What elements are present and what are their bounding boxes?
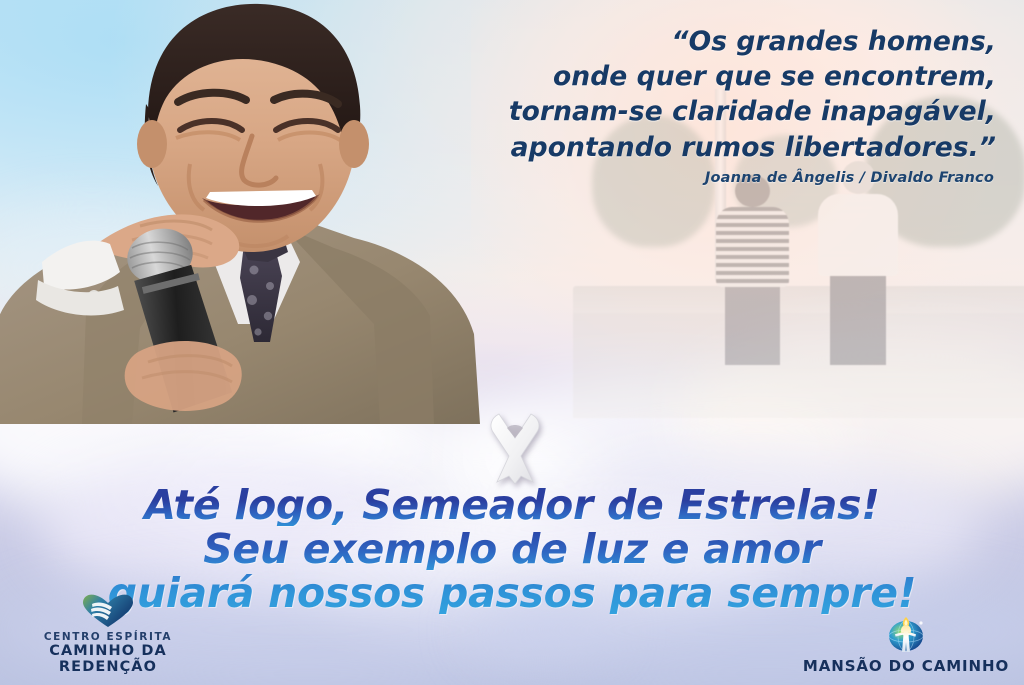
logo-right-line-2: MANSÃO DO CAMINHO	[798, 657, 1014, 675]
portrait-divaldo-franco	[0, 0, 502, 424]
headline-line-1: Até logo, Semeador de Estrelas!	[0, 485, 1024, 526]
quote-line: apontando rumos libertadores.”	[436, 130, 996, 165]
walking-figure	[818, 161, 898, 365]
heart-hands-icon	[8, 594, 208, 628]
headline-line-2: Seu exemplo de luz e amor	[0, 529, 1024, 570]
logo-mansao-do-caminho: MANSÃO DO CAMINHO	[798, 614, 1014, 675]
globe-figure-icon	[798, 614, 1014, 654]
logo-left-line-2: CAMINHO DA REDENÇÃO	[8, 643, 208, 675]
memorial-poster: “Os grandes homens, onde quer que se enc…	[0, 0, 1024, 685]
walking-figure	[715, 175, 790, 366]
logo-centro-espirita: CENTRO ESPÍRITA CAMINHO DA REDENÇÃO	[8, 594, 208, 675]
ground	[573, 313, 1024, 418]
quote-line: tornam-se claridade inapagável,	[436, 94, 996, 129]
quote-line: onde quer que se encontrem,	[436, 59, 996, 94]
quote-line: “Os grandes homens,	[436, 24, 996, 59]
white-mourning-ribbon-icon	[487, 412, 543, 484]
logo-left-line-1: CENTRO ESPÍRITA	[8, 631, 208, 643]
quote-attribution: Joanna de Ângelis / Divaldo Franco	[434, 170, 994, 186]
memorial-quote: “Os grandes homens, onde quer que se enc…	[436, 24, 996, 165]
